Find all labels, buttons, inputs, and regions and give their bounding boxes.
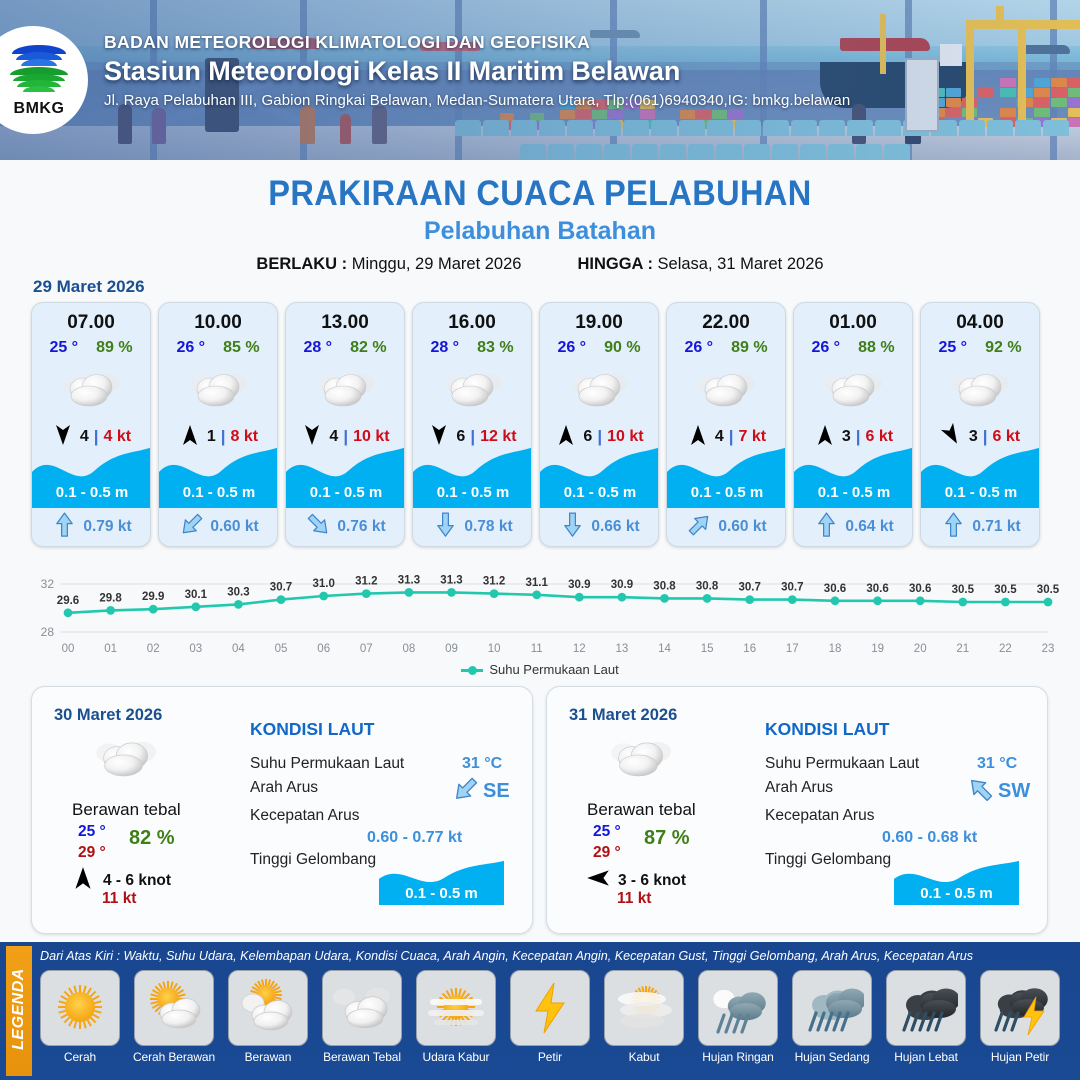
card-gust: 6 kt [866, 428, 894, 446]
valid-from-value: Minggu, 29 Maret 2026 [352, 255, 522, 273]
panel-current-dir-value: SW [998, 780, 1030, 803]
valid-until-label: HINGGA : [577, 255, 652, 273]
card-wave-height: 0.1 - 0.5 m [286, 484, 405, 501]
card-current-speed: 0.76 kt [337, 518, 385, 536]
card-wind-row: 4 | 7 kt [667, 426, 785, 448]
card-temperature: 28 ° [430, 339, 459, 357]
card-humidity: 83 % [477, 339, 513, 357]
panel-weather-icon [607, 735, 674, 786]
card-separator: | [221, 427, 226, 447]
current-arrow-icon [179, 515, 204, 539]
panel-sea-title: KONDISI LAUT [250, 719, 374, 740]
svg-text:32: 32 [41, 577, 55, 591]
panel-current-speed-value: 0.60 - 0.68 kt [882, 829, 977, 847]
legend-item: Cerah [36, 970, 124, 1064]
card-temp-hum-row: 28 ° 83 % [413, 339, 531, 357]
svg-text:30.7: 30.7 [270, 582, 292, 594]
card-current-row: 0.71 kt [921, 515, 1040, 539]
legend-item-label: Hujan Sedang [788, 1050, 876, 1064]
legend-icon-box [886, 970, 966, 1046]
card-humidity: 82 % [350, 339, 386, 357]
current-direction-icon [684, 509, 715, 540]
cloud-sun-icon [236, 977, 300, 1039]
current-direction-icon [944, 512, 963, 537]
forecast-card: 19.00 26 ° 90 % 6 | 10 k [539, 302, 659, 547]
card-wave-height: 0.1 - 0.5 m [32, 484, 151, 501]
svg-text:13: 13 [616, 643, 629, 655]
current-direction-icon [55, 512, 74, 537]
card-wind-row: 6 | 10 kt [540, 426, 658, 448]
card-time: 16.00 [413, 312, 531, 334]
current-direction-icon [563, 512, 582, 537]
sst-chart: 322829.60029.80129.90230.10330.30430.705… [22, 558, 1060, 658]
current-arrow-icon [814, 515, 839, 539]
svg-text:30.3: 30.3 [227, 586, 249, 598]
haze-icon [424, 977, 488, 1039]
panel-humidity: 82 % [129, 827, 175, 850]
card-current-speed: 0.66 kt [591, 518, 639, 536]
svg-text:28: 28 [41, 625, 55, 639]
panel-wind-arrow-icon [70, 867, 96, 894]
svg-text:17: 17 [786, 643, 799, 655]
daily-panel-row: 30 Maret 2026 Berawan tebal 25 ° 29 ° 82… [31, 686, 1049, 934]
card-temperature: 26 ° [176, 339, 205, 357]
legend-icon-box [510, 970, 590, 1046]
legend-item-label: Hujan Lebat [882, 1050, 970, 1064]
card-current-speed: 0.78 kt [464, 518, 512, 536]
current-direction-icon [817, 512, 836, 537]
header-text-block: BADAN METEOROLOGI KLIMATOLOGI DAN GEOFIS… [104, 32, 850, 109]
card-temperature: 26 ° [684, 339, 713, 357]
current-direction-icon [964, 772, 998, 806]
card-current-speed: 0.60 kt [210, 518, 258, 536]
berawan-tebal-icon [313, 367, 377, 411]
svg-text:23: 23 [1042, 643, 1055, 655]
panel-wind-arrow-icon [585, 867, 611, 894]
panel-gust: 11 kt [617, 890, 651, 908]
legend-item: Berawan Tebal [318, 970, 406, 1064]
card-wind-speed: 4 [329, 428, 338, 446]
svg-text:16: 16 [743, 643, 756, 655]
lightning-icon [518, 977, 582, 1039]
card-current-row: 0.78 kt [413, 515, 532, 539]
chart-legend: Suhu Permukaan Laut [0, 662, 1080, 677]
panel-weather-icon [92, 735, 159, 786]
svg-text:08: 08 [403, 643, 416, 655]
panel-current-dir-row: SW [967, 779, 1030, 805]
svg-text:31.3: 31.3 [398, 574, 420, 586]
heavy-rain-icon [894, 977, 958, 1039]
legend-item: Hujan Sedang [788, 970, 876, 1064]
card-current-row: 0.60 kt [159, 515, 278, 539]
legend-icon-box [604, 970, 684, 1046]
card-current-speed: 0.60 kt [718, 518, 766, 536]
panel-current-dir-row: SE [452, 779, 510, 805]
card-weather-icon [159, 361, 277, 417]
wind-direction-icon [556, 423, 576, 447]
card-wind-speed: 1 [207, 428, 216, 446]
card-wind-row: 6 | 12 kt [413, 426, 531, 448]
page-header: BMKG BADAN METEOROLOGI KLIMATOLOGI DAN G… [0, 0, 1080, 160]
card-weather-icon [413, 361, 531, 417]
current-arrow-icon [433, 515, 458, 539]
light-rain-icon [706, 977, 770, 1039]
berawan-tebal-icon [186, 367, 250, 411]
svg-text:30.7: 30.7 [781, 582, 803, 594]
card-wind-speed: 6 [583, 428, 592, 446]
card-wind-row: 3 | 6 kt [794, 426, 912, 448]
panel-current-arrow-icon [967, 779, 994, 805]
legend-icon-box [40, 970, 120, 1046]
card-humidity: 90 % [604, 339, 640, 357]
legend-icon-box [228, 970, 308, 1046]
svg-text:02: 02 [147, 643, 160, 655]
svg-text:05: 05 [275, 643, 288, 655]
valid-from-label: BERLAKU : [256, 255, 347, 273]
legend-item-label: Berawan [224, 1050, 312, 1064]
current-arrow-icon [560, 515, 585, 539]
card-temp-hum-row: 26 ° 85 % [159, 339, 277, 357]
card-humidity: 88 % [858, 339, 894, 357]
panel-wave-label: Tinggi Gelombang [765, 851, 891, 869]
legend-item-label: Berawan Tebal [318, 1050, 406, 1064]
panel-current-speed-label: Kecepatan Arus [765, 807, 874, 825]
svg-text:31.2: 31.2 [355, 576, 377, 588]
svg-text:30.6: 30.6 [909, 583, 931, 595]
card-gust: 6 kt [993, 428, 1021, 446]
card-time: 22.00 [667, 312, 785, 334]
daily-forecast-panel: 31 Maret 2026 Berawan tebal 25 ° 29 ° 87… [546, 686, 1048, 934]
card-humidity: 85 % [223, 339, 259, 357]
card-weather-icon [540, 361, 658, 417]
sun-cloud-icon [142, 977, 206, 1039]
chart-legend-label: Suhu Permukaan Laut [489, 662, 618, 677]
svg-text:30.8: 30.8 [653, 580, 676, 592]
card-gust: 8 kt [231, 428, 259, 446]
legend-item: Hujan Lebat [882, 970, 970, 1064]
wind-direction-icon [53, 423, 73, 447]
svg-text:29.6: 29.6 [57, 595, 79, 607]
card-weather-icon [667, 361, 785, 417]
legend-item: Cerah Berawan [130, 970, 218, 1064]
berawan-tebal-icon [821, 367, 885, 411]
card-time: 04.00 [921, 312, 1039, 334]
card-wind-row: 3 | 6 kt [921, 426, 1039, 448]
current-arrow-icon [941, 515, 966, 539]
svg-text:30.9: 30.9 [611, 579, 633, 591]
card-gust: 4 kt [104, 428, 132, 446]
svg-text:00: 00 [62, 643, 75, 655]
card-temp-hum-row: 26 ° 89 % [667, 339, 785, 357]
svg-text:31.2: 31.2 [483, 576, 505, 588]
legend-icon-box [416, 970, 496, 1046]
card-wave-height: 0.1 - 0.5 m [794, 484, 913, 501]
legend-item-label: Udara Kabur [412, 1050, 500, 1064]
daily-forecast-panel: 30 Maret 2026 Berawan tebal 25 ° 29 ° 82… [31, 686, 533, 934]
svg-text:12: 12 [573, 643, 586, 655]
forecast-card: 13.00 28 ° 82 % 4 | 10 k [285, 302, 405, 547]
svg-text:14: 14 [658, 643, 671, 655]
panel-wind-speed: 4 - 6 knot [103, 872, 171, 890]
fog-icon [612, 977, 676, 1039]
legend-tab: LEGENDA [6, 946, 32, 1076]
current-direction-icon [449, 772, 483, 806]
card-temp-hum-row: 26 ° 90 % [540, 339, 658, 357]
card-separator: | [470, 427, 475, 447]
svg-text:31.0: 31.0 [313, 578, 335, 590]
svg-text:11: 11 [531, 643, 543, 655]
card-wind-speed: 3 [842, 428, 851, 446]
card-current-row: 0.79 kt [32, 515, 151, 539]
panel-sst-value: 31 °C [977, 755, 1017, 773]
svg-text:31.1: 31.1 [526, 577, 549, 589]
wind-direction-icon [688, 423, 708, 447]
card-temperature: 26 ° [557, 339, 586, 357]
card-humidity: 89 % [731, 339, 767, 357]
legend-icon-box [698, 970, 778, 1046]
card-humidity: 92 % [985, 339, 1021, 357]
header-station-name: Stasiun Meteorologi Kelas II Maritim Bel… [104, 56, 850, 87]
card-time: 07.00 [32, 312, 150, 334]
card-current-speed: 0.79 kt [83, 518, 131, 536]
legend-icon-box [980, 970, 1060, 1046]
svg-text:29.9: 29.9 [142, 591, 164, 603]
page-subtitle: Pelabuhan Batahan [0, 217, 1080, 246]
legend-bar: LEGENDA Dari Atas Kiri : Waktu, Suhu Uda… [0, 942, 1080, 1080]
valid-from: BERLAKU : Minggu, 29 Maret 2026 [256, 255, 521, 274]
legend-item-label: Cerah [36, 1050, 124, 1064]
page-title: PRAKIRAAN CUACA PELABUHAN [38, 174, 1042, 214]
panel-wave-value: 0.1 - 0.5 m [894, 885, 1019, 902]
card-temp-hum-row: 25 ° 92 % [921, 339, 1039, 357]
card-temperature: 25 ° [49, 339, 78, 357]
panel-current-dir-label: Arah Arus [765, 779, 833, 797]
panel-current-speed-value: 0.60 - 0.77 kt [367, 829, 462, 847]
panel-current-arrow-icon [452, 779, 479, 805]
card-gust: 10 kt [607, 428, 643, 446]
panel-gust: 11 kt [102, 890, 136, 908]
card-weather-icon [921, 361, 1039, 417]
panel-condition: Berawan tebal [72, 800, 181, 820]
svg-text:07: 07 [360, 643, 373, 655]
svg-text:30.9: 30.9 [568, 579, 590, 591]
card-gust: 12 kt [480, 428, 516, 446]
card-separator: | [856, 427, 861, 447]
card-wave-height: 0.1 - 0.5 m [667, 484, 786, 501]
panel-temp-min: 25 ° [78, 823, 106, 841]
berawan-tebal-icon [607, 735, 674, 781]
forecast-card: 01.00 26 ° 88 % 3 | 6 kt [793, 302, 913, 547]
legend-item: Hujan Ringan [694, 970, 782, 1064]
bmkg-logo-mark [8, 43, 70, 99]
wind-direction-icon [815, 423, 835, 447]
validity-row: BERLAKU : Minggu, 29 Maret 2026 HINGGA :… [0, 255, 1080, 274]
legend-item: Udara Kabur [412, 970, 500, 1064]
svg-text:09: 09 [445, 643, 458, 655]
forecast-card-row: 07.00 25 ° 89 % 4 | 4 kt [31, 302, 1051, 547]
berawan-tebal-icon [440, 367, 504, 411]
card-weather-icon [286, 361, 404, 417]
header-org-name: BADAN METEOROLOGI KLIMATOLOGI DAN GEOFIS… [104, 32, 850, 53]
panel-temp-max: 29 ° [593, 844, 621, 862]
card-wave-height: 0.1 - 0.5 m [540, 484, 659, 501]
card-temperature: 28 ° [303, 339, 332, 357]
card-time: 01.00 [794, 312, 912, 334]
card-temp-hum-row: 28 ° 82 % [286, 339, 404, 357]
svg-text:01: 01 [104, 643, 117, 655]
forecast-day-label: 29 Maret 2026 [33, 277, 145, 297]
card-temperature: 26 ° [811, 339, 840, 357]
thunderstorm-icon [988, 977, 1052, 1039]
card-current-row: 0.76 kt [286, 515, 405, 539]
legend-tab-label: LEGENDA [10, 944, 28, 1074]
current-arrow-icon [52, 515, 77, 539]
wind-direction-icon [429, 423, 449, 447]
legend-item: Kabut [600, 970, 688, 1064]
card-temp-hum-row: 25 ° 89 % [32, 339, 150, 357]
berawan-tebal-icon [948, 367, 1012, 411]
svg-text:18: 18 [829, 643, 842, 655]
svg-text:19: 19 [871, 643, 884, 655]
panel-date: 30 Maret 2026 [54, 706, 162, 725]
legend-item-label: Cerah Berawan [130, 1050, 218, 1064]
moderate-rain-icon [800, 977, 864, 1039]
card-current-speed: 0.64 kt [845, 518, 893, 536]
panel-current-speed-label: Kecepatan Arus [250, 807, 359, 825]
svg-text:30.5: 30.5 [952, 584, 975, 596]
current-arrow-icon [687, 515, 712, 539]
card-current-row: 0.66 kt [540, 515, 659, 539]
legend-icon-box [134, 970, 214, 1046]
forecast-card: 22.00 26 ° 89 % 4 | 7 kt [666, 302, 786, 547]
forecast-card: 10.00 26 ° 85 % 1 | 8 kt [158, 302, 278, 547]
panel-condition: Berawan tebal [587, 800, 696, 820]
legend-item: Hujan Petir [976, 970, 1064, 1064]
svg-text:30.5: 30.5 [1037, 584, 1060, 596]
card-wave-height: 0.1 - 0.5 m [413, 484, 532, 501]
legend-item-label: Petir [506, 1050, 594, 1064]
svg-text:15: 15 [701, 643, 714, 655]
svg-text:03: 03 [189, 643, 202, 655]
wind-direction-icon [302, 423, 322, 447]
card-wave-height: 0.1 - 0.5 m [921, 484, 1040, 501]
panel-current-dir-value: SE [483, 780, 510, 803]
card-weather-icon [794, 361, 912, 417]
svg-text:30.6: 30.6 [824, 583, 846, 595]
svg-text:31.3: 31.3 [440, 574, 462, 586]
card-separator: | [94, 427, 99, 447]
legend-item: Petir [506, 970, 594, 1064]
legend-icon-box [792, 970, 872, 1046]
card-current-row: 0.60 kt [667, 515, 786, 539]
current-direction-icon [303, 509, 334, 540]
legend-item-row: Cerah Cerah Berawan Berawan Berawan Teba… [36, 970, 1076, 1064]
panel-sst-label: Suhu Permukaan Laut [765, 755, 919, 773]
card-humidity: 89 % [96, 339, 132, 357]
legend-item-label: Hujan Petir [976, 1050, 1064, 1064]
panel-date: 31 Maret 2026 [569, 706, 677, 725]
card-temperature: 25 ° [938, 339, 967, 357]
card-time: 19.00 [540, 312, 658, 334]
valid-until-value: Selasa, 31 Maret 2026 [658, 255, 824, 273]
card-wind-row: 4 | 4 kt [32, 426, 150, 448]
berawan-tebal-icon [694, 367, 758, 411]
current-arrow-icon [306, 515, 331, 539]
cloud-icon [330, 977, 394, 1039]
card-wind-speed: 3 [969, 428, 978, 446]
legend-item-label: Hujan Ringan [694, 1050, 782, 1064]
card-current-speed: 0.71 kt [972, 518, 1020, 536]
sun-icon [48, 977, 112, 1039]
card-gust: 7 kt [739, 428, 767, 446]
card-wind-row: 1 | 8 kt [159, 426, 277, 448]
legend-item-label: Kabut [600, 1050, 688, 1064]
svg-text:30.7: 30.7 [739, 582, 761, 594]
panel-temp-min: 25 ° [593, 823, 621, 841]
wind-direction-icon [180, 423, 200, 447]
wind-direction-icon [72, 865, 94, 891]
current-direction-icon [176, 509, 207, 540]
svg-text:29.8: 29.8 [99, 592, 122, 604]
header-address: Jl. Raya Pelabuhan III, Gabion Ringkai B… [104, 92, 850, 109]
svg-text:21: 21 [956, 643, 969, 655]
panel-sea-title: KONDISI LAUT [765, 719, 889, 740]
chart-legend-marker-icon [461, 669, 483, 672]
berawan-tebal-icon [92, 735, 159, 781]
card-wind-speed: 6 [456, 428, 465, 446]
forecast-card: 04.00 25 ° 92 % 3 | 6 kt [920, 302, 1040, 547]
wind-direction-icon [585, 867, 611, 889]
card-current-row: 0.64 kt [794, 515, 913, 539]
card-gust: 10 kt [353, 428, 389, 446]
svg-text:04: 04 [232, 643, 245, 655]
berawan-tebal-icon [567, 367, 631, 411]
svg-text:30.1: 30.1 [185, 589, 208, 601]
valid-until: HINGGA : Selasa, 31 Maret 2026 [577, 255, 823, 274]
legend-note: Dari Atas Kiri : Waktu, Suhu Udara, Kele… [40, 949, 1072, 963]
card-wind-row: 4 | 10 kt [286, 426, 404, 448]
bmkg-logo-text: BMKG [14, 100, 65, 118]
card-time: 10.00 [159, 312, 277, 334]
svg-text:06: 06 [317, 643, 330, 655]
panel-temp-max: 29 ° [78, 844, 106, 862]
card-weather-icon [32, 361, 150, 417]
svg-text:30.6: 30.6 [866, 583, 888, 595]
panel-current-dir-label: Arah Arus [250, 779, 318, 797]
card-time: 13.00 [286, 312, 404, 334]
card-separator: | [597, 427, 602, 447]
card-separator: | [983, 427, 988, 447]
svg-text:20: 20 [914, 643, 927, 655]
forecast-card: 16.00 28 ° 83 % 6 | 12 k [412, 302, 532, 547]
card-separator: | [729, 427, 734, 447]
panel-sst-label: Suhu Permukaan Laut [250, 755, 404, 773]
panel-humidity: 87 % [644, 827, 690, 850]
forecast-card: 07.00 25 ° 89 % 4 | 4 kt [31, 302, 151, 547]
svg-text:10: 10 [488, 643, 501, 655]
svg-text:30.5: 30.5 [994, 584, 1017, 596]
current-direction-icon [436, 512, 455, 537]
legend-icon-box [322, 970, 402, 1046]
card-wind-speed: 4 [80, 428, 89, 446]
legend-item: Berawan [224, 970, 312, 1064]
svg-text:22: 22 [999, 643, 1012, 655]
panel-sst-value: 31 °C [462, 755, 502, 773]
card-wind-speed: 4 [715, 428, 724, 446]
panel-wave-label: Tinggi Gelombang [250, 851, 376, 869]
title-block: PRAKIRAAN CUACA PELABUHAN Pelabuhan Bata… [0, 174, 1080, 274]
card-temp-hum-row: 26 ° 88 % [794, 339, 912, 357]
